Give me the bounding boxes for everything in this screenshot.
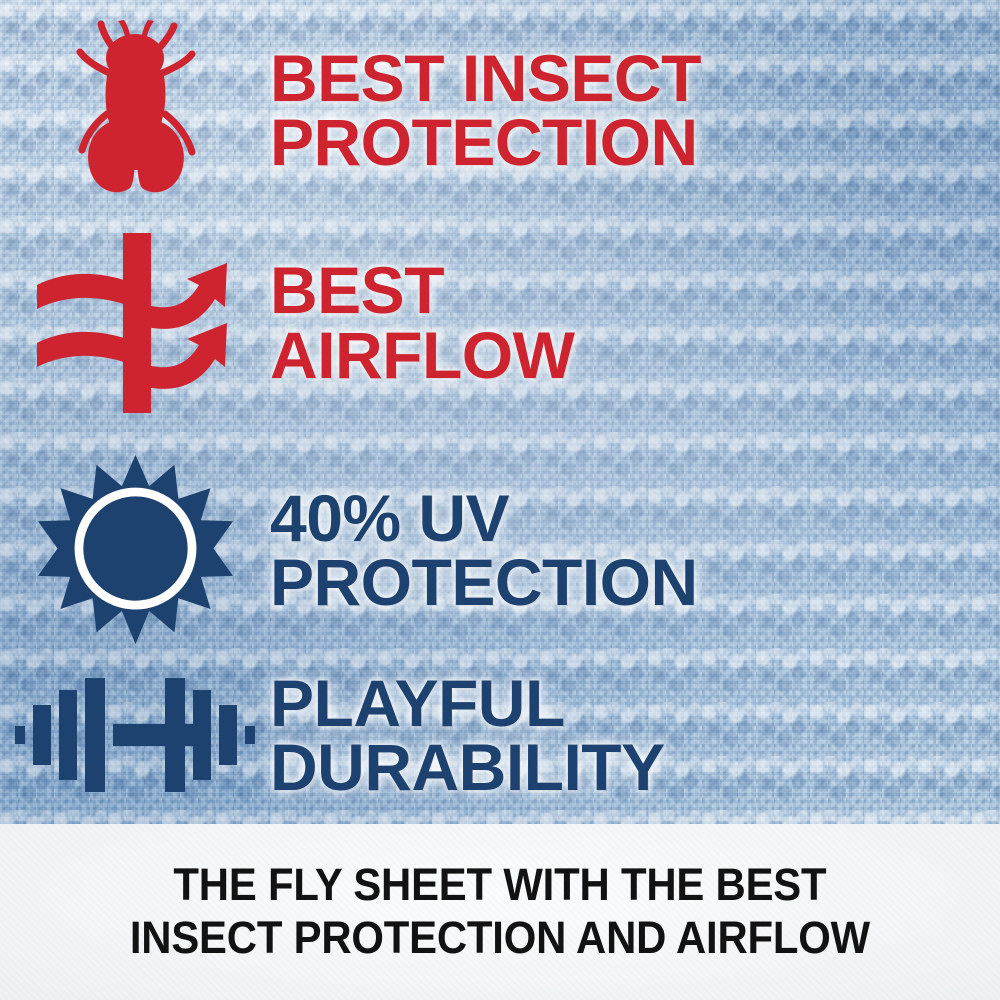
caption-band: THE FLY SHEET WITH THE BEST INSECT PROTE… xyxy=(0,824,1000,1000)
feature-row-insect-protection: BEST INSECT PROTECTION xyxy=(0,10,870,210)
feature-icon-cell xyxy=(0,453,270,648)
feature-row-uv-protection: 40% UV PROTECTION xyxy=(0,450,870,650)
feature-icon-cell xyxy=(0,18,270,203)
feature-icon-cell xyxy=(0,233,270,413)
feature-text-cell: 40% UV PROTECTION xyxy=(270,486,870,614)
infographic-image: BEST INSECT PROTECTION xyxy=(0,0,1000,1000)
feature-label-airflow: BEST AIRFLOW xyxy=(270,258,870,386)
caption-text: THE FLY SHEET WITH THE BEST INSECT PROTE… xyxy=(130,859,870,964)
sun-uv-icon xyxy=(38,453,233,648)
feature-icon-cell xyxy=(0,670,270,800)
feature-label-insect-protection: BEST INSECT PROTECTION xyxy=(270,46,870,174)
feature-text-cell: BEST AIRFLOW xyxy=(270,258,870,386)
feature-label-durability: PLAYFUL DURABILITY xyxy=(270,671,870,799)
feature-text-cell: PLAYFUL DURABILITY xyxy=(270,671,870,799)
feature-label-uv-protection: 40% UV PROTECTION xyxy=(270,486,870,614)
dumbbell-icon xyxy=(15,670,255,800)
fly-icon xyxy=(60,18,210,203)
feature-text-cell: BEST INSECT PROTECTION xyxy=(270,46,870,174)
airflow-icon xyxy=(35,233,235,413)
feature-row-durability: PLAYFUL DURABILITY xyxy=(0,650,870,820)
feature-row-airflow: BEST AIRFLOW xyxy=(0,225,870,420)
